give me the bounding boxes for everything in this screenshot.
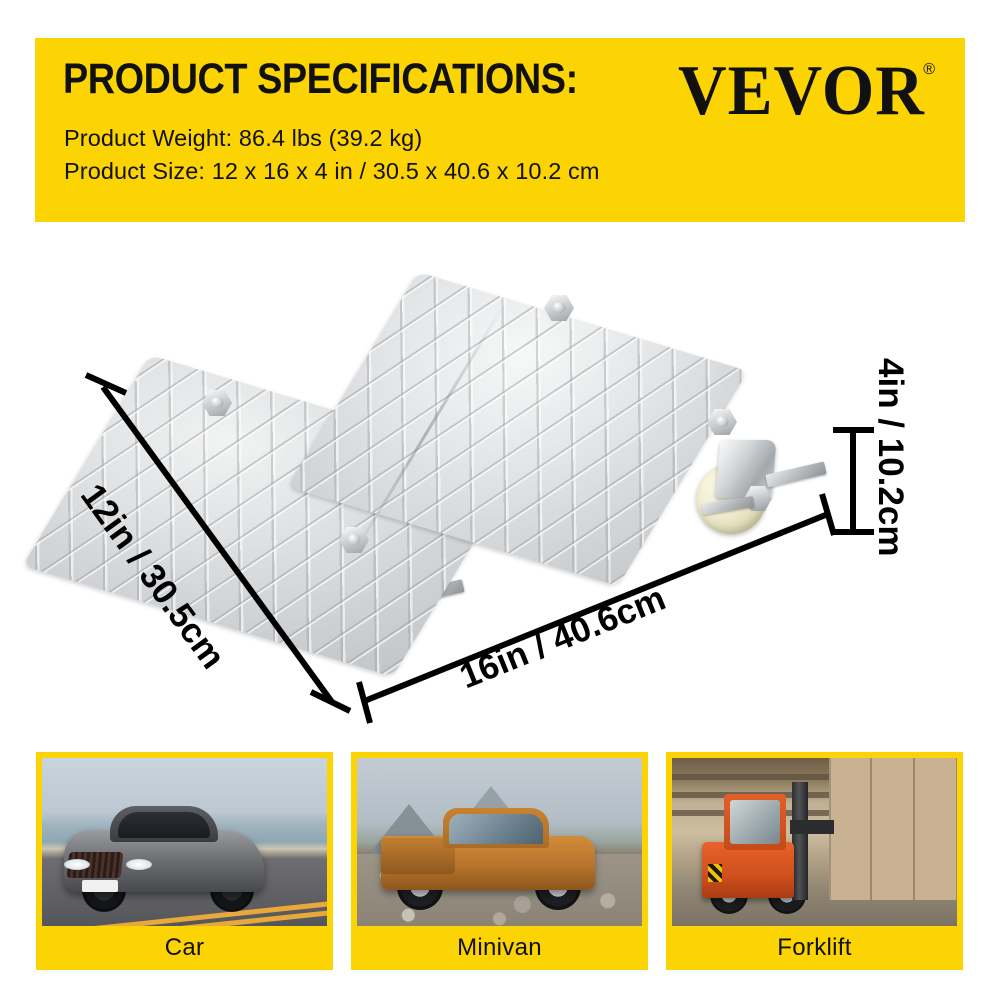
vevor-logo: VEVOR ® (678, 58, 935, 121)
dimension-label-height: 4in / 10.2cm (873, 358, 908, 556)
bolt-head-icon (553, 302, 566, 313)
use-case-card-car[interactable]: Car (36, 752, 333, 970)
wheel-dolly-illustration (150, 260, 830, 680)
forklift-scene (672, 758, 957, 926)
hex-bolt-top (544, 295, 574, 321)
car-license-plate (82, 880, 118, 892)
product-image: 12in / 30.5cm 16in / 40.6cm 4in / 10.2cm (0, 230, 1000, 740)
hex-bolt-right (707, 409, 737, 435)
use-case-cards: Car Minivan (0, 752, 1000, 972)
forklift-photo (672, 758, 957, 926)
spec-line-size: Product Size: 12 x 16 x 4 in / 30.5 x 40… (64, 155, 600, 188)
cardboard-box-stack (829, 758, 957, 900)
use-case-card-minivan[interactable]: Minivan (351, 752, 648, 970)
vevor-wordmark: VEVOR (678, 58, 925, 126)
card-caption-minivan: Minivan (351, 926, 648, 970)
hex-bolt-left (202, 390, 232, 416)
car-scene (42, 758, 327, 926)
minivan-scene (357, 758, 642, 926)
hazard-stripe-icon (708, 864, 722, 882)
minivan-photo (357, 758, 642, 926)
car-headlight-right (126, 859, 152, 870)
car-headlight-left (64, 859, 90, 870)
car-photo (42, 758, 327, 926)
use-case-card-forklift[interactable]: Forklift (666, 752, 963, 970)
card-caption-forklift: Forklift (666, 926, 963, 970)
truck-windows (449, 814, 543, 844)
bolt-head-icon (211, 397, 224, 408)
caster-brake-lever (765, 461, 826, 487)
spec-line-weight: Product Weight: 86.4 lbs (39.2 kg) (64, 122, 600, 155)
bolt-head-icon (348, 534, 361, 545)
card-caption-car: Car (36, 926, 333, 970)
specifications-banner: PRODUCT SPECIFICATIONS: Product Weight: … (35, 38, 965, 222)
page-title: PRODUCT SPECIFICATIONS: (63, 58, 578, 101)
car-windshield (118, 812, 210, 838)
bolt-head-icon (716, 416, 729, 427)
forklift-carriage (790, 820, 834, 834)
caster-wheel-rear (690, 438, 840, 548)
specification-list: Product Weight: 86.4 lbs (39.2 kg) Produ… (64, 122, 600, 189)
hex-bolt-bottom (339, 527, 369, 553)
forklift-mast (792, 782, 808, 900)
caster-yoke (715, 440, 776, 498)
registered-trademark-icon: ® (923, 62, 935, 78)
forklift-window (730, 800, 780, 844)
